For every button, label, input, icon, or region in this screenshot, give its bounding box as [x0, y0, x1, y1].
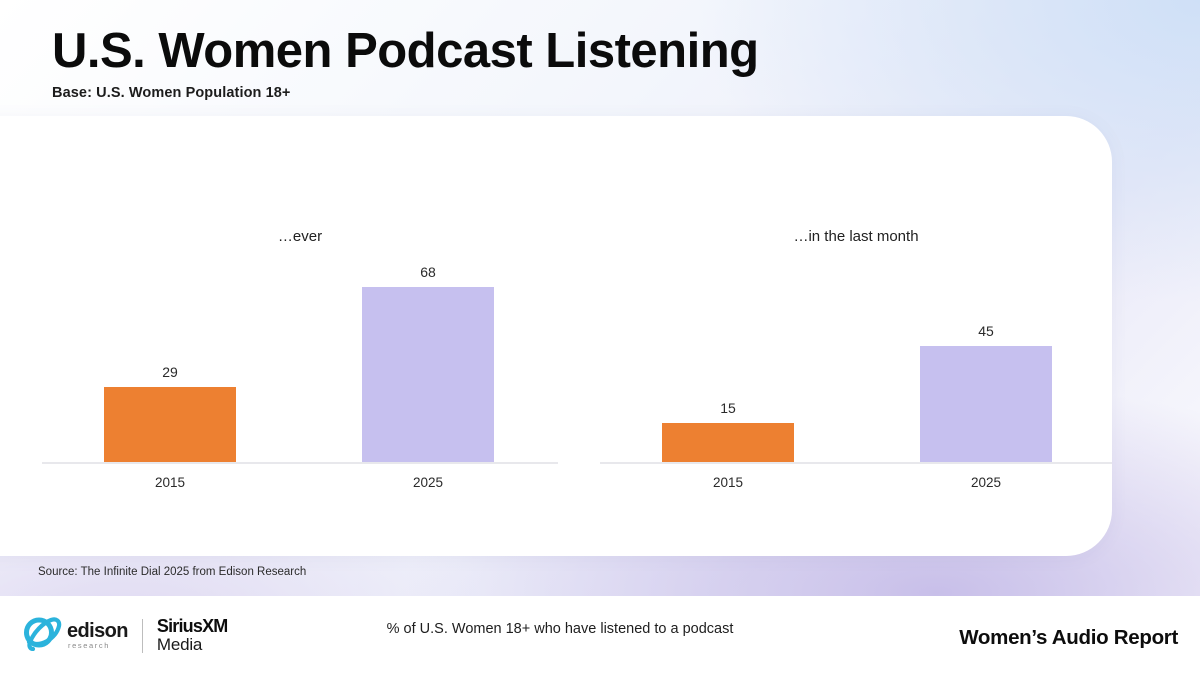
bar-value-ever-2015: 29 [162, 364, 178, 380]
bar-last-month-2015[interactable] [662, 423, 794, 462]
bar-value-last-month-2025: 45 [978, 323, 994, 339]
bar-value-ever-2025: 68 [420, 264, 436, 280]
charts-container: …ever 29 2015 68 2025 …in the last month… [0, 116, 1120, 556]
edison-subname: research [68, 642, 128, 650]
siriusxm-media-logo: SiriusXM Media [157, 617, 228, 653]
bar-label-last-month-2015: 2015 [662, 475, 794, 490]
edison-research-logo: edison research [22, 615, 128, 656]
bar-ever-2025[interactable] [362, 287, 494, 462]
axis-line-last-month [600, 462, 1112, 464]
edison-wordmark: edison research [67, 621, 128, 650]
report-label: Women’s Audio Report [959, 626, 1178, 650]
bar-value-last-month-2015: 15 [720, 400, 736, 416]
axis-line-ever [42, 462, 558, 464]
bar-last-month-2025[interactable] [920, 346, 1052, 462]
page-title: U.S. Women Podcast Listening [52, 26, 759, 78]
edison-name: edison [67, 621, 128, 641]
siriusxm-name: SiriusXM [157, 617, 228, 636]
bar-group-last-month-2025[interactable]: 45 [920, 323, 1052, 462]
bar-label-last-month-2025: 2025 [920, 475, 1052, 490]
chart-panel-last-month: …in the last month 15 2015 45 2025 [600, 116, 1112, 516]
source-note: Source: The Infinite Dial 2025 from Edis… [38, 566, 306, 578]
bar-group-ever-2025[interactable]: 68 [362, 264, 494, 462]
footer-logos: edison research SiriusXM Media [22, 615, 227, 656]
bar-label-ever-2025: 2025 [362, 475, 494, 490]
edison-orbit-icon [22, 615, 64, 656]
page-subtitle: Base: U.S. Women Population 18+ [52, 85, 759, 101]
slide-footer: edison research SiriusXM Media Women’s A… [0, 604, 1200, 674]
bar-label-ever-2015: 2015 [104, 475, 236, 490]
bar-group-ever-2015[interactable]: 29 [104, 364, 236, 462]
bar-group-last-month-2015[interactable]: 15 [662, 400, 794, 462]
bar-ever-2015[interactable] [104, 387, 236, 462]
logo-divider [142, 619, 143, 653]
panel-title-last-month: …in the last month [600, 228, 1112, 245]
chart-panel-ever: …ever 29 2015 68 2025 [42, 116, 558, 516]
slide-header: U.S. Women Podcast Listening Base: U.S. … [52, 26, 759, 101]
panel-title-ever: …ever [42, 228, 558, 245]
siriusxm-media-label: Media [157, 636, 228, 654]
